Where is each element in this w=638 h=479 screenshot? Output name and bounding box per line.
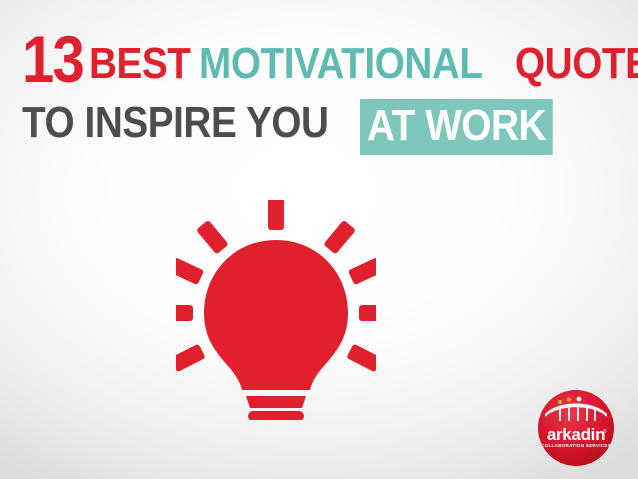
arkadin-logo[interactable]: arkadin ® COLLABORATION SERVICES bbox=[536, 388, 616, 468]
headline-word-motivational: MOTIVATIONAL bbox=[199, 42, 483, 86]
headline-number: 13 bbox=[22, 26, 83, 92]
headline-subtitle-plain: TO INSPIRE YOU bbox=[22, 101, 329, 145]
logo-dot-pink bbox=[587, 398, 591, 402]
logo-dot-orange bbox=[567, 397, 571, 401]
status-badge: AT WORK bbox=[360, 99, 553, 155]
logo-tagline: COLLABORATION SERVICES bbox=[541, 443, 611, 448]
headline-word-quotes: QUOTES bbox=[515, 42, 638, 86]
headline-line-1: 13BESTMOTIVATIONALQUOTES bbox=[22, 22, 622, 84]
lightbulb-icon bbox=[176, 200, 376, 420]
logo-dot-green bbox=[558, 400, 562, 404]
page-title: 13BESTMOTIVATIONALQUOTES TO INSPIRE YOUA… bbox=[22, 22, 622, 152]
headline-line-2: TO INSPIRE YOUAT WORK bbox=[22, 96, 622, 152]
logo-wordmark: arkadin bbox=[547, 425, 605, 444]
headline-word-best: BEST bbox=[89, 42, 191, 86]
logo-registered-mark: ® bbox=[603, 428, 607, 435]
slide-canvas: 13BESTMOTIVATIONALQUOTES TO INSPIRE YOUA… bbox=[0, 0, 638, 479]
logo-dot-white bbox=[577, 397, 582, 402]
